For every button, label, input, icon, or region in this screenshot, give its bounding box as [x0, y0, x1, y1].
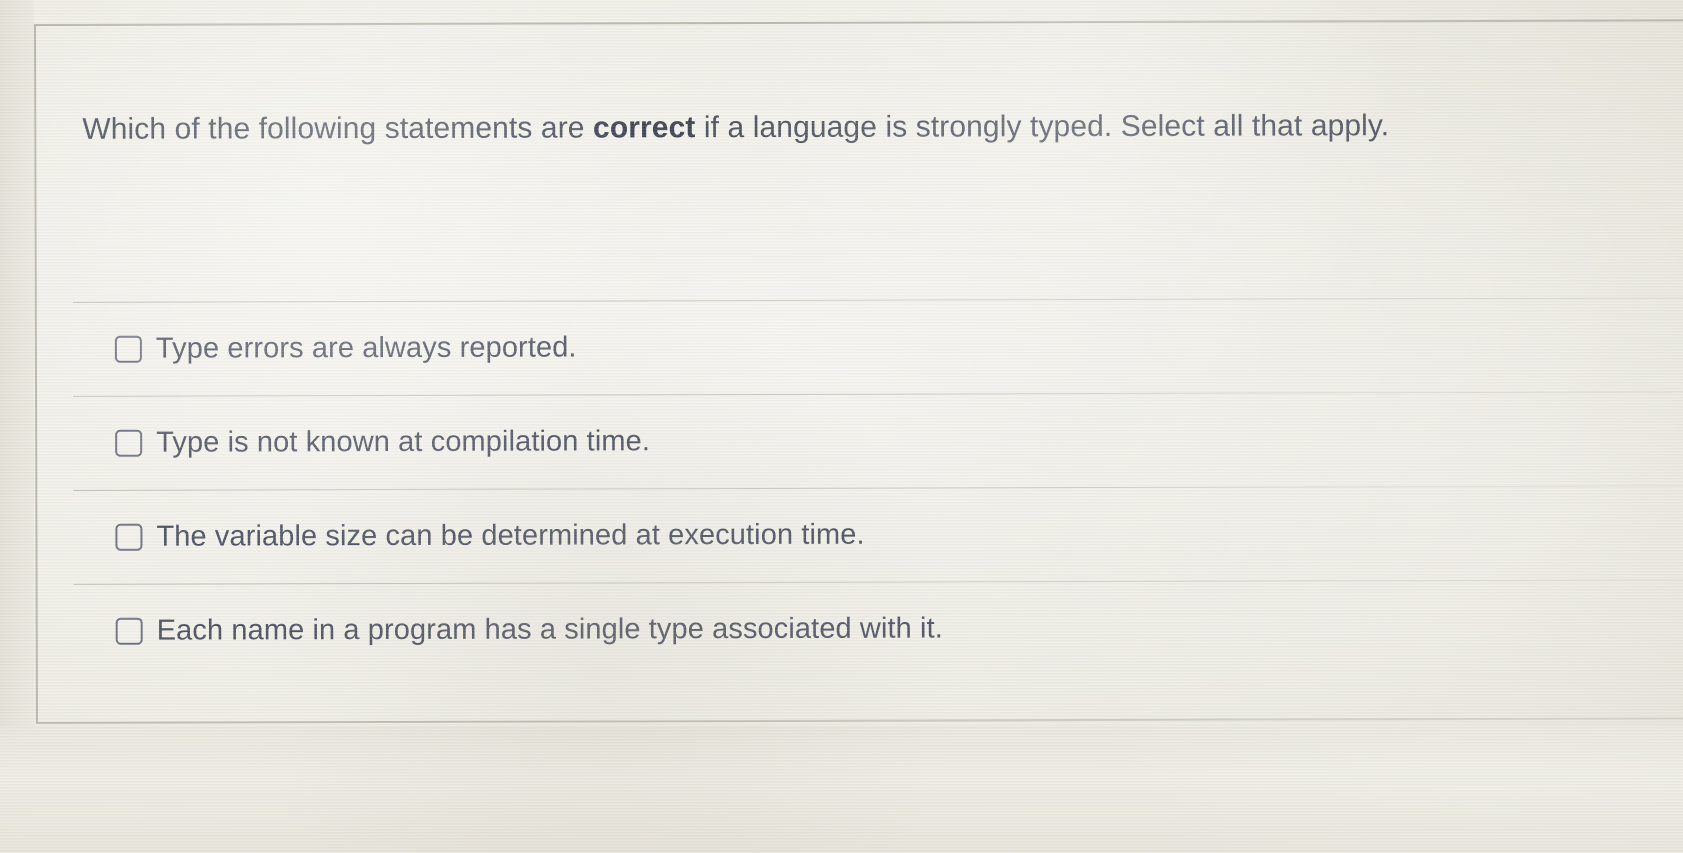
question-block: Which of the following statements are co…	[82, 106, 1643, 150]
option-row-4[interactable]: Each name in a program has a single type…	[74, 580, 1683, 677]
question-text: Which of the following statements are co…	[82, 106, 1643, 150]
option-label-3: The variable size can be determined at e…	[156, 518, 864, 555]
option-label-1: Type errors are always reported.	[156, 331, 577, 367]
checkbox-unchecked-icon[interactable]	[116, 618, 143, 645]
question-card: Which of the following statements are co…	[34, 19, 1683, 724]
question-text-prefix: Which of the following statements are	[82, 111, 593, 145]
checkbox-unchecked-icon[interactable]	[115, 336, 142, 363]
option-row-3[interactable]: The variable size can be determined at e…	[73, 486, 1683, 583]
below-card-area	[0, 726, 1683, 853]
question-text-suffix: if a language is strongly typed. Select …	[695, 109, 1389, 144]
checkbox-unchecked-icon[interactable]	[115, 524, 142, 551]
option-label-2: Type is not known at compilation time.	[156, 424, 650, 460]
option-row-2[interactable]: Type is not known at compilation time.	[73, 392, 1683, 489]
options-list: Type errors are always reported. Type is…	[73, 297, 1683, 677]
question-text-emphasis: correct	[593, 111, 696, 144]
option-row-1[interactable]: Type errors are always reported.	[73, 298, 1683, 395]
checkbox-unchecked-icon[interactable]	[115, 430, 142, 457]
option-label-4: Each name in a program has a single type…	[157, 612, 943, 649]
